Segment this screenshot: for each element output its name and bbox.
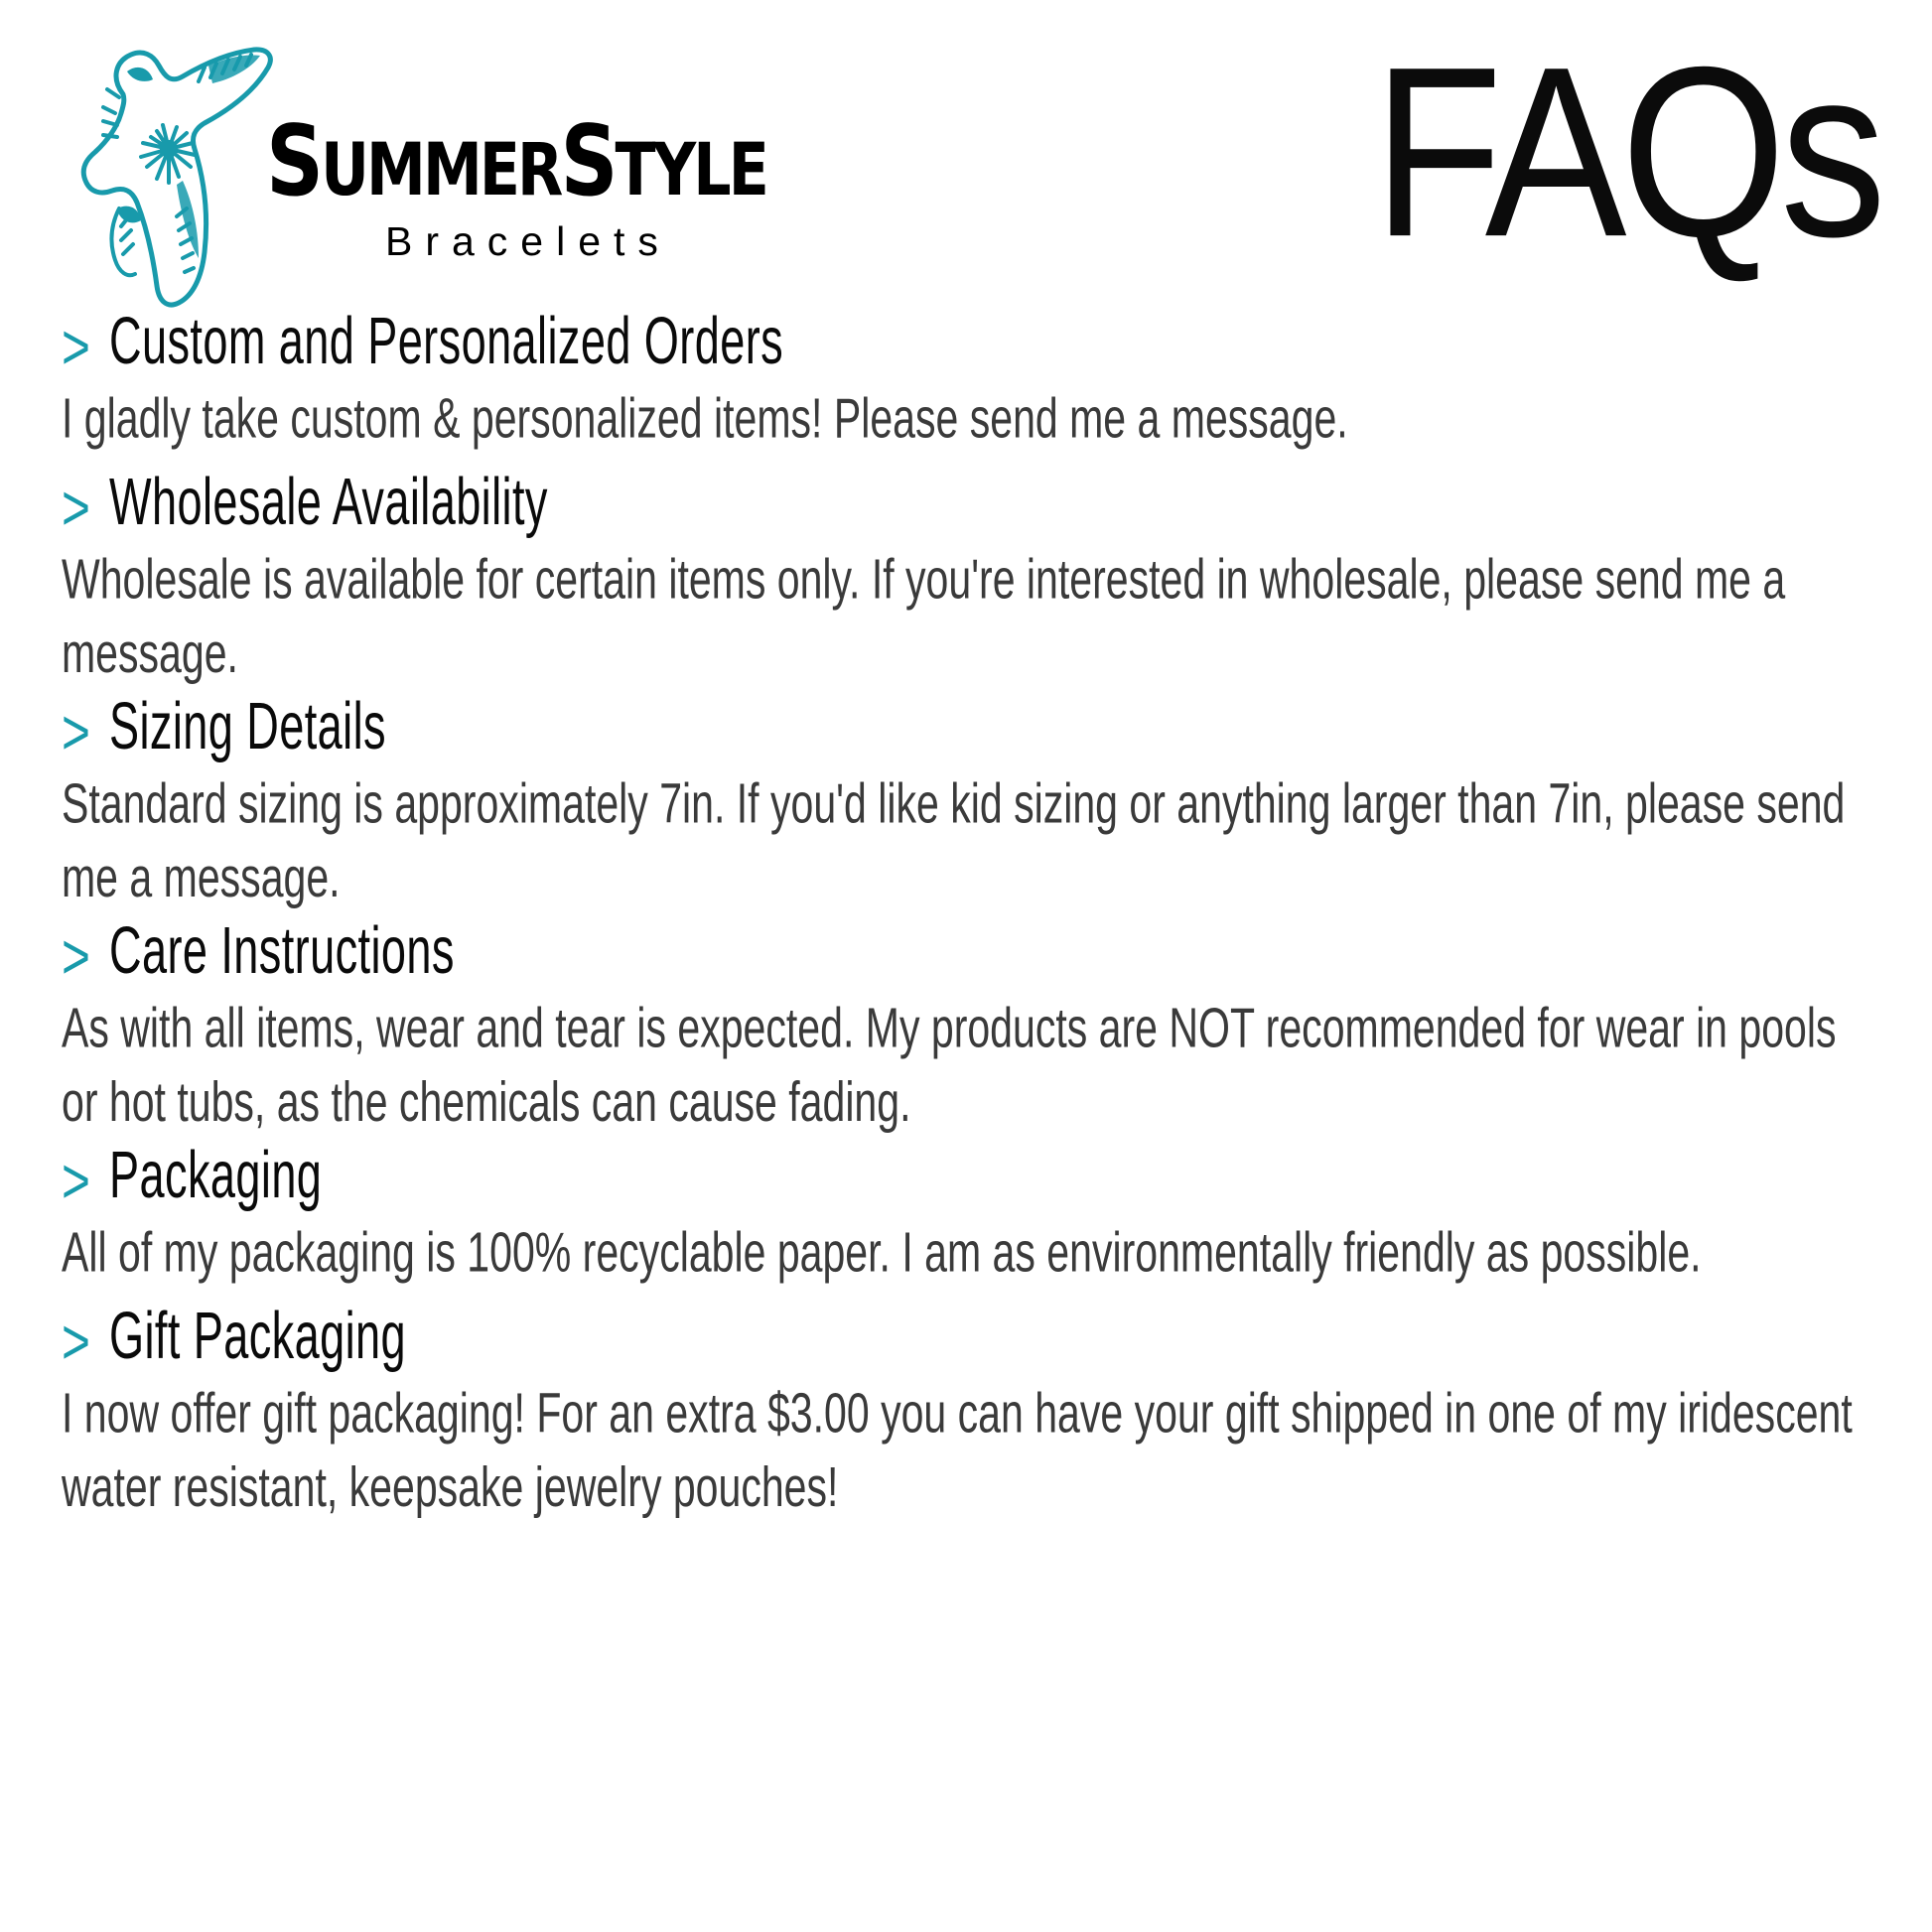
chevron-right-icon: > bbox=[62, 1149, 90, 1213]
faq-heading-label: Sizing Details bbox=[109, 693, 386, 759]
chevron-right-icon: > bbox=[62, 700, 90, 764]
chevron-right-icon: > bbox=[62, 924, 90, 989]
brand-letters-tyle: TYLE bbox=[616, 126, 766, 211]
page-title: FAQs bbox=[1373, 0, 1932, 274]
chevron-right-icon: > bbox=[62, 476, 90, 540]
brand-wordmark: SUMMERSTYLE Bracelets bbox=[266, 22, 781, 265]
faq-heading-label: Packaging bbox=[109, 1141, 322, 1207]
brand-lockup: SUMMERSTYLE Bracelets bbox=[0, 0, 781, 310]
starfish-icon bbox=[60, 22, 280, 310]
faq-heading-label: Wholesale Availability bbox=[109, 469, 548, 535]
faq-item-custom-and-personalized-orders: > Custom and Personalized Orders I gladl… bbox=[62, 320, 1872, 445]
page-header: SUMMERSTYLE Bracelets FAQs bbox=[0, 0, 1932, 316]
faq-heading[interactable]: > Wholesale Availability bbox=[62, 481, 1872, 535]
chevron-right-icon: > bbox=[62, 1310, 90, 1374]
faq-item-packaging: > Packaging All of my packaging is 100% … bbox=[62, 1154, 1872, 1279]
faq-heading-label: Custom and Personalized Orders bbox=[109, 308, 783, 374]
faq-list: > Custom and Personalized Orders I gladl… bbox=[0, 320, 1932, 1503]
faq-heading[interactable]: > Packaging bbox=[62, 1154, 1872, 1208]
faq-body-text: As with all items, wear and tear is expe… bbox=[62, 992, 1873, 1141]
faq-heading-label: Gift Packaging bbox=[109, 1303, 406, 1369]
faq-body-text: All of my packaging is 100% recyclable p… bbox=[62, 1216, 1873, 1291]
faq-heading[interactable]: > Sizing Details bbox=[62, 705, 1872, 759]
faq-body-text: I gladly take custom & personalized item… bbox=[62, 382, 1873, 457]
brand-name-primary: SUMMERSTYLE bbox=[266, 117, 766, 207]
brand-letter-s2: S bbox=[560, 104, 615, 217]
brand-letters-ummer: UMMER bbox=[321, 126, 560, 211]
faq-heading-label: Care Instructions bbox=[109, 917, 455, 984]
faq-item-gift-packaging: > Gift Packaging I now offer gift packag… bbox=[62, 1314, 1872, 1503]
faq-item-sizing-details: > Sizing Details Standard sizing is appr… bbox=[62, 705, 1872, 894]
faq-body-text: Wholesale is available for certain items… bbox=[62, 543, 1873, 692]
faq-heading[interactable]: > Gift Packaging bbox=[62, 1314, 1872, 1369]
faq-page: SUMMERSTYLE Bracelets FAQs > Custom and … bbox=[0, 0, 1932, 1932]
faq-heading[interactable]: > Care Instructions bbox=[62, 929, 1872, 984]
chevron-right-icon: > bbox=[62, 315, 90, 379]
brand-letter-s1: S bbox=[266, 104, 321, 217]
faq-heading[interactable]: > Custom and Personalized Orders bbox=[62, 320, 1872, 374]
faq-body-text: Standard sizing is approximately 7in. If… bbox=[62, 767, 1873, 916]
faq-item-care-instructions: > Care Instructions As with all items, w… bbox=[62, 929, 1872, 1118]
brand-name-secondary: Bracelets bbox=[385, 218, 781, 265]
faq-item-wholesale-availability: > Wholesale Availability Wholesale is av… bbox=[62, 481, 1872, 669]
faq-body-text: I now offer gift packaging! For an extra… bbox=[62, 1377, 1873, 1526]
